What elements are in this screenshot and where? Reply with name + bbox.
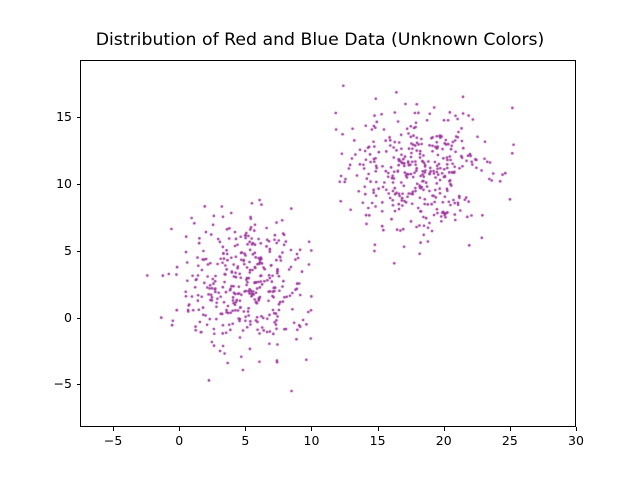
y-tick-mark bbox=[77, 251, 81, 252]
y-tick-mark bbox=[77, 184, 81, 185]
x-tick-label: −5 bbox=[88, 433, 138, 448]
x-tick-label: 5 bbox=[220, 433, 270, 448]
x-tick-mark bbox=[510, 427, 511, 431]
x-tick-mark bbox=[378, 427, 379, 431]
y-tick-mark bbox=[77, 117, 81, 118]
x-tick-mark bbox=[245, 427, 246, 431]
x-tick-label: 0 bbox=[154, 433, 204, 448]
matplotlib-figure: Distribution of Red and Blue Data (Unkno… bbox=[0, 0, 640, 480]
y-tick-label: 15 bbox=[22, 109, 72, 124]
axes-frame bbox=[80, 60, 576, 427]
y-tick-mark bbox=[77, 384, 81, 385]
y-tick-label: 10 bbox=[22, 176, 72, 191]
y-tick-label: 5 bbox=[22, 243, 72, 258]
y-tick-mark bbox=[77, 318, 81, 319]
x-tick-label: 20 bbox=[419, 433, 469, 448]
y-tick-label: −5 bbox=[22, 376, 72, 391]
x-tick-mark bbox=[444, 427, 445, 431]
x-tick-mark bbox=[311, 427, 312, 431]
x-tick-mark bbox=[113, 427, 114, 431]
chart-title: Distribution of Red and Blue Data (Unkno… bbox=[0, 30, 640, 50]
x-tick-mark bbox=[576, 427, 577, 431]
x-tick-label: 10 bbox=[286, 433, 336, 448]
x-tick-label: 15 bbox=[353, 433, 403, 448]
x-tick-label: 25 bbox=[485, 433, 535, 448]
x-tick-mark bbox=[179, 427, 180, 431]
y-tick-label: 0 bbox=[22, 310, 72, 325]
x-tick-label: 30 bbox=[551, 433, 601, 448]
